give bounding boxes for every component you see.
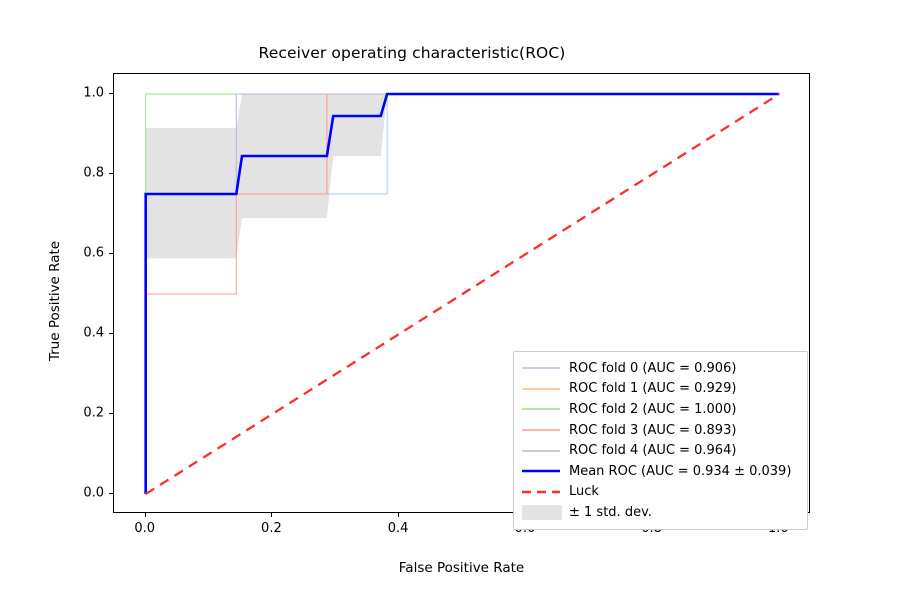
y-tick-mark [109,413,113,414]
y-tick-mark [109,173,113,174]
legend-item[interactable]: ROC fold 1 (AUC = 0.929) [522,379,799,400]
legend-swatch-icon [522,464,560,478]
legend-label: ROC fold 4 (AUC = 0.964) [569,443,736,458]
legend-swatch-icon [522,382,560,396]
legend-item[interactable]: ROC fold 0 (AUC = 0.906) [522,358,799,379]
legend-swatch-icon [522,444,560,458]
x-tick-mark [398,513,399,517]
chart-legend[interactable]: ROC fold 0 (AUC = 0.906)ROC fold 1 (AUC … [513,351,808,530]
legend-line-glyph [522,485,560,499]
legend-line-glyph [522,464,560,478]
y-tick-mark [109,493,113,494]
y-tick-mark [109,333,113,334]
legend-line-glyph [522,361,560,375]
std-dev-band [146,94,393,258]
legend-swatch-icon [522,485,560,499]
legend-item[interactable]: Luck [522,482,799,503]
legend-line-glyph [522,402,560,416]
legend-swatch-icon [522,505,560,519]
legend-label: ± 1 std. dev. [569,505,652,520]
chart-title: Receiver operating characteristic(ROC) [0,44,900,62]
legend-line-glyph [522,423,560,437]
legend-item[interactable]: ROC fold 3 (AUC = 0.893) [522,420,799,441]
legend-swatch-icon [522,402,560,416]
x-tick-label: 0.0 [134,521,155,536]
legend-item[interactable]: ROC fold 4 (AUC = 0.964) [522,440,799,461]
legend-item[interactable]: ± 1 std. dev. [522,502,799,523]
legend-label: Mean ROC (AUC = 0.934 ± 0.039) [569,464,791,479]
legend-label: Luck [569,484,599,499]
legend-swatch-icon [522,423,560,437]
legend-line-glyph [522,382,560,396]
y-tick-label: 0.8 [60,166,104,181]
x-tick-mark [271,513,272,517]
y-tick-label: 0.2 [60,406,104,421]
legend-label: ROC fold 2 (AUC = 1.000) [569,402,736,417]
legend-item[interactable]: Mean ROC (AUC = 0.934 ± 0.039) [522,461,799,482]
legend-line-glyph [522,444,560,458]
y-tick-label: 0.4 [60,326,104,341]
x-tick-label: 0.4 [388,521,409,536]
y-tick-mark [109,93,113,94]
chart-title-text: Receiver operating characteristic(ROC) [259,44,566,62]
y-tick-label: 0.6 [60,246,104,261]
legend-label: ROC fold 0 (AUC = 0.906) [569,361,736,376]
legend-swatch-icon [522,361,560,375]
y-axis-label: True Positive Rate [47,201,63,401]
x-tick-mark [145,513,146,517]
x-axis-label: False Positive Rate [113,560,810,576]
x-tick-label: 0.2 [261,521,282,536]
legend-label: ROC fold 1 (AUC = 0.929) [569,381,736,396]
y-tick-label: 0.0 [60,486,104,501]
legend-item[interactable]: ROC fold 2 (AUC = 1.000) [522,399,799,420]
y-tick-label: 1.0 [60,86,104,101]
y-tick-mark [109,253,113,254]
legend-patch [522,505,562,520]
legend-label: ROC fold 3 (AUC = 0.893) [569,423,736,438]
roc-chart-figure: Receiver operating characteristic(ROC) 0… [0,0,900,600]
